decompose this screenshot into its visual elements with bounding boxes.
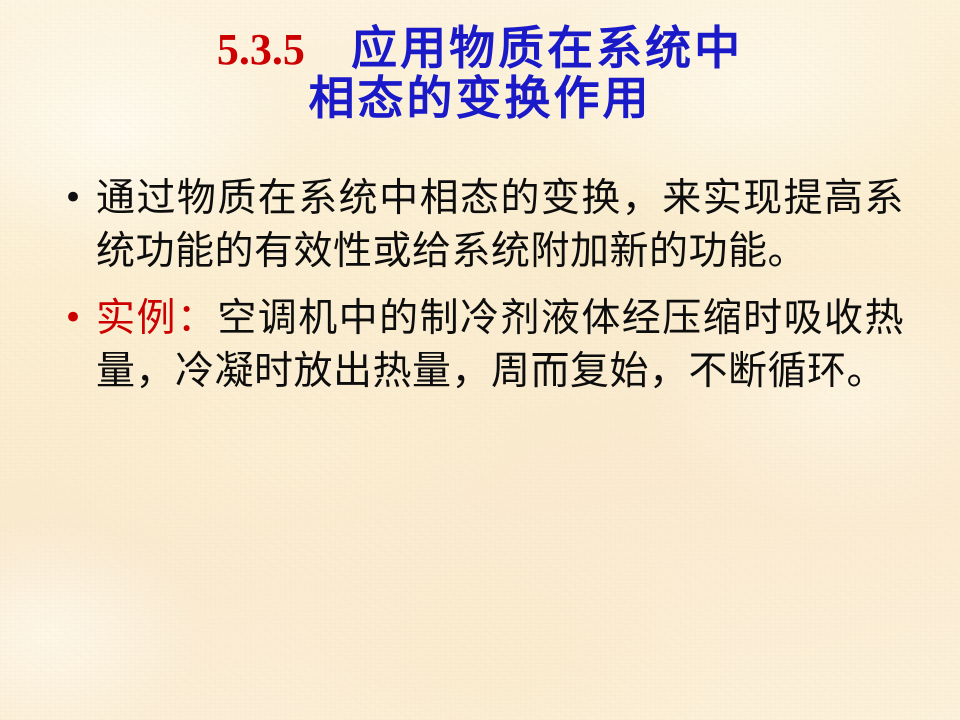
bullet-point-icon: • <box>56 172 96 224</box>
list-item-body: 空调机中的制冷剂液体经压缩时吸收热量，冷凝时放出热量，周而复始，不断循环。 <box>96 296 904 394</box>
list-item-text: 实例：空调机中的制冷剂液体经压缩时吸收热量，冷凝时放出热量，周而复始，不断循环。 <box>96 292 904 398</box>
list-item-text: 通过物质在系统中相态的变换，来实现提高系统功能的有效性或给系统附加新的功能。 <box>96 172 904 278</box>
title-heading-line-1: 应用物质在系统中 <box>351 21 743 75</box>
slide-content: 5.3.5 应用物质在系统中 相态的变换作用 • 通过物质在系统中相态的变换，来… <box>0 0 960 720</box>
presentation-slide: 5.3.5 应用物质在系统中 相态的变换作用 • 通过物质在系统中相态的变换，来… <box>0 0 960 720</box>
list-item-label-example: 实例： <box>96 296 217 341</box>
slide-title: 5.3.5 应用物质在系统中 相态的变换作用 <box>0 24 960 123</box>
list-item-body: 通过物质在系统中相态的变换，来实现提高系统功能的有效性或给系统附加新的功能。 <box>96 176 904 274</box>
list-item: • 通过物质在系统中相态的变换，来实现提高系统功能的有效性或给系统附加新的功能。 <box>56 172 904 278</box>
title-section-number: 5.3.5 <box>217 25 305 74</box>
bullet-point-icon: • <box>56 292 96 344</box>
title-line-2: 相态的变换作用 <box>0 74 960 124</box>
list-item: • 实例：空调机中的制冷剂液体经压缩时吸收热量，冷凝时放出热量，周而复始，不断循… <box>56 292 904 398</box>
title-heading-line-2: 相态的变换作用 <box>309 71 652 125</box>
bullet-list: • 通过物质在系统中相态的变换，来实现提高系统功能的有效性或给系统附加新的功能。… <box>56 172 904 412</box>
title-line-1: 5.3.5 应用物质在系统中 <box>0 24 960 74</box>
